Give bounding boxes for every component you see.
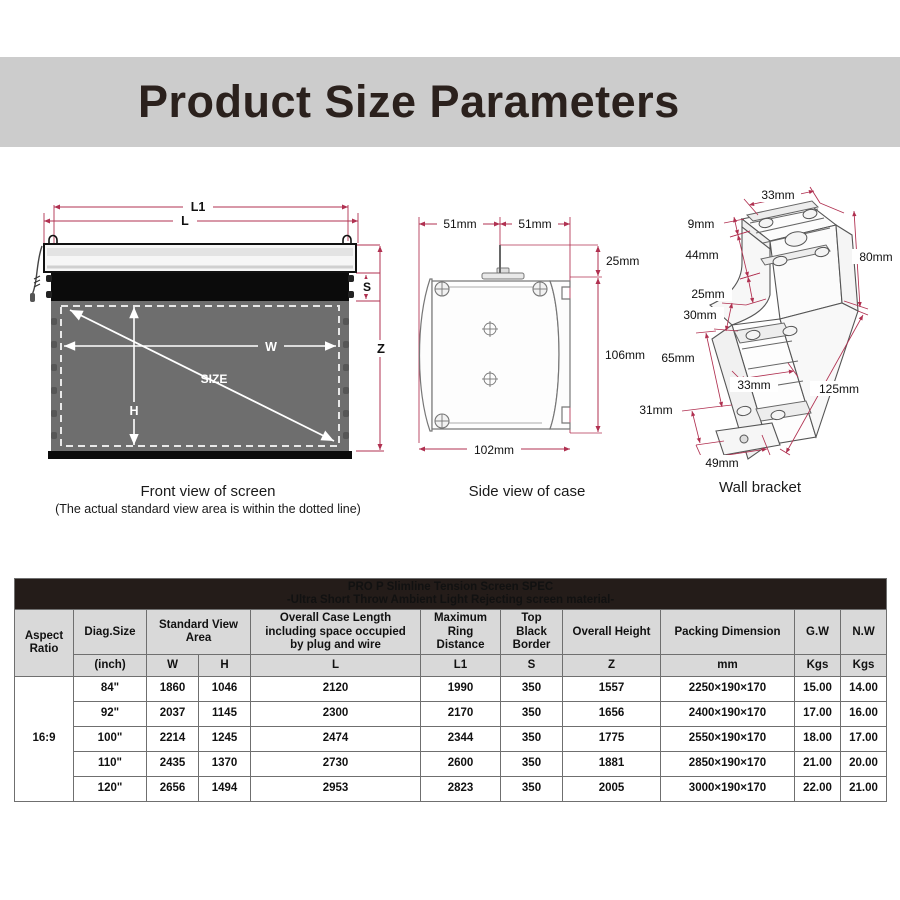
header-top-black-border: Top Black Border bbox=[501, 610, 563, 655]
wb-label-33-low: 33mm bbox=[737, 378, 770, 392]
unit-w: W bbox=[147, 655, 199, 677]
side-view-svg: 51mm 51mm 25mm 106mm 102mm bbox=[402, 195, 652, 485]
header-ocl-l3: by plug and wire bbox=[290, 639, 381, 651]
front-view-caption-sub: (The actual standard view area is within… bbox=[18, 502, 398, 516]
svg-text:L: L bbox=[181, 214, 189, 228]
cell-h: 1494 bbox=[199, 777, 251, 802]
header-tbb-l1: Top bbox=[521, 612, 541, 624]
cell-l1: 2600 bbox=[421, 752, 501, 777]
cell-h: 1245 bbox=[199, 727, 251, 752]
cell-s: 350 bbox=[501, 752, 563, 777]
header-aspect-ratio-l1: Aspect bbox=[25, 630, 63, 642]
table-row: 16:9 84" 1860 1046 2120 1990 350 1557 22… bbox=[15, 677, 887, 702]
header-nw: N.W bbox=[841, 610, 887, 655]
cell-s: 350 bbox=[501, 702, 563, 727]
cell-w: 2656 bbox=[147, 777, 199, 802]
cell-packing: 2250×190×170 bbox=[661, 677, 795, 702]
svg-text:L1: L1 bbox=[191, 200, 206, 214]
wb-label-9: 9mm bbox=[688, 217, 715, 231]
wall-bracket-diagram: 33mm 9mm 44mm 25mm 30mm 65mm 31mm 49mm bbox=[620, 183, 900, 483]
cell-z: 1656 bbox=[563, 702, 661, 727]
wb-label-44: 44mm bbox=[685, 248, 718, 262]
cell-l: 2953 bbox=[251, 777, 421, 802]
unit-packing: mm bbox=[661, 655, 795, 677]
cell-s: 350 bbox=[501, 777, 563, 802]
svg-text:W: W bbox=[265, 340, 277, 354]
header-mrd-l1: Maximum bbox=[434, 612, 487, 624]
svg-text:51mm: 51mm bbox=[443, 217, 476, 231]
cell-gw: 17.00 bbox=[795, 702, 841, 727]
banner-line-1: PRO P Slimline Tension Screen SPEC bbox=[348, 581, 553, 593]
unit-gw: Kgs bbox=[795, 655, 841, 677]
cell-h: 1370 bbox=[199, 752, 251, 777]
side-view-diagram: 51mm 51mm 25mm 106mm 102mm bbox=[402, 195, 652, 485]
header-overall-height: Overall Height bbox=[563, 610, 661, 655]
table-row: 100" 2214 1245 2474 2344 350 1775 2550×1… bbox=[15, 727, 887, 752]
cell-nw: 17.00 bbox=[841, 727, 887, 752]
cell-packing: 2400×190×170 bbox=[661, 702, 795, 727]
header-maximum-ring-distance: Maximum Ring Distance bbox=[421, 610, 501, 655]
cell-nw: 16.00 bbox=[841, 702, 887, 727]
header-mrd-l3: Distance bbox=[437, 639, 485, 651]
wall-bracket-svg: 33mm 9mm 44mm 25mm 30mm 65mm 31mm 49mm bbox=[620, 183, 900, 483]
wall-bracket-caption: Wall bracket bbox=[620, 479, 900, 496]
cell-diag: 92" bbox=[74, 702, 147, 727]
side-view-caption: Side view of case bbox=[402, 483, 652, 500]
svg-text:H: H bbox=[129, 404, 138, 418]
svg-text:102mm: 102mm bbox=[474, 443, 514, 457]
wb-label-31: 31mm bbox=[639, 403, 672, 417]
unit-l1: L1 bbox=[421, 655, 501, 677]
size-label: SIZE bbox=[201, 372, 228, 386]
cell-l1: 2344 bbox=[421, 727, 501, 752]
table-row: 110" 2435 1370 2730 2600 350 1881 2850×1… bbox=[15, 752, 887, 777]
wb-label-30: 30mm bbox=[683, 308, 716, 322]
table-row: 120" 2656 1494 2953 2823 350 2005 3000×1… bbox=[15, 777, 887, 802]
header-tbb-l2: Black bbox=[516, 626, 547, 638]
table-header-row: Aspect Ratio Diag.Size Standard View Are… bbox=[15, 610, 887, 655]
cell-w: 2214 bbox=[147, 727, 199, 752]
cell-s: 350 bbox=[501, 677, 563, 702]
cell-packing: 2550×190×170 bbox=[661, 727, 795, 752]
title-banner: Product Size Parameters bbox=[0, 57, 900, 147]
cell-h: 1145 bbox=[199, 702, 251, 727]
cell-l: 2474 bbox=[251, 727, 421, 752]
cell-nw: 21.00 bbox=[841, 777, 887, 802]
spec-table: PRO P Slimline Tension Screen SPEC -Ultr… bbox=[14, 578, 887, 802]
unit-nw: Kgs bbox=[841, 655, 887, 677]
unit-z: Z bbox=[563, 655, 661, 677]
banner-line-2: -Ultra Short Throw Ambient Light Rejecti… bbox=[16, 594, 885, 607]
cell-w: 1860 bbox=[147, 677, 199, 702]
unit-l: L bbox=[251, 655, 421, 677]
wb-label-25: 25mm bbox=[691, 287, 724, 301]
header-diag-size: Diag.Size bbox=[74, 610, 147, 655]
cell-diag: 100" bbox=[74, 727, 147, 752]
unit-s: S bbox=[501, 655, 563, 677]
front-view-caption: Front view of screen (The actual standar… bbox=[18, 483, 398, 516]
svg-text:51mm: 51mm bbox=[518, 217, 551, 231]
cell-diag: 84" bbox=[74, 677, 147, 702]
diagrams-area: L1 L bbox=[0, 175, 900, 545]
cell-packing: 3000×190×170 bbox=[661, 777, 795, 802]
page-title: Product Size Parameters bbox=[138, 76, 680, 128]
cell-z: 2005 bbox=[563, 777, 661, 802]
wb-label-33-top: 33mm bbox=[761, 188, 794, 202]
table-row: 92" 2037 1145 2300 2170 350 1656 2400×19… bbox=[15, 702, 887, 727]
cell-nw: 20.00 bbox=[841, 752, 887, 777]
cell-l: 2120 bbox=[251, 677, 421, 702]
header-overall-case-length: Overall Case Length including space occu… bbox=[251, 610, 421, 655]
spec-table-container: PRO P Slimline Tension Screen SPEC -Ultr… bbox=[14, 578, 886, 802]
cell-diag: 120" bbox=[74, 777, 147, 802]
cell-l: 2730 bbox=[251, 752, 421, 777]
cell-w: 2037 bbox=[147, 702, 199, 727]
table-banner-cell: PRO P Slimline Tension Screen SPEC -Ultr… bbox=[15, 579, 887, 610]
header-aspect-ratio-l2: Ratio bbox=[30, 643, 59, 655]
cell-s: 350 bbox=[501, 727, 563, 752]
cell-w: 2435 bbox=[147, 752, 199, 777]
side-view-caption-main: Side view of case bbox=[469, 483, 586, 500]
header-mrd-l2: Ring bbox=[448, 626, 474, 638]
cell-h: 1046 bbox=[199, 677, 251, 702]
header-ocl-l1: Overall Case Length bbox=[280, 612, 391, 624]
front-view-caption-main: Front view of screen bbox=[140, 483, 275, 500]
table-unit-row: (inch) W H L L1 S Z mm Kgs Kgs bbox=[15, 655, 887, 677]
wall-bracket-caption-main: Wall bracket bbox=[719, 479, 801, 496]
table-banner-row: PRO P Slimline Tension Screen SPEC -Ultr… bbox=[15, 579, 887, 610]
wb-label-80: 80mm bbox=[859, 250, 892, 264]
wb-label-65: 65mm bbox=[661, 351, 694, 365]
cell-l1: 2823 bbox=[421, 777, 501, 802]
unit-h: H bbox=[199, 655, 251, 677]
cell-gw: 22.00 bbox=[795, 777, 841, 802]
cell-gw: 21.00 bbox=[795, 752, 841, 777]
cell-gw: 15.00 bbox=[795, 677, 841, 702]
cell-l1: 2170 bbox=[421, 702, 501, 727]
cell-l: 2300 bbox=[251, 702, 421, 727]
header-sva-l2: Area bbox=[186, 632, 212, 644]
cell-z: 1775 bbox=[563, 727, 661, 752]
header-standard-view-area: Standard View Area bbox=[147, 610, 251, 655]
front-view-svg: L1 L bbox=[18, 183, 398, 483]
cell-aspect-ratio: 16:9 bbox=[15, 677, 74, 802]
header-sva-l1: Standard View bbox=[159, 619, 238, 631]
header-packing-dimension: Packing Dimension bbox=[661, 610, 795, 655]
header-ocl-l2: including space occupied bbox=[265, 626, 406, 638]
page-root: Product Size Parameters bbox=[0, 0, 900, 900]
cell-l1: 1990 bbox=[421, 677, 501, 702]
header-tbb-l3: Border bbox=[513, 639, 551, 651]
svg-text:S: S bbox=[363, 280, 371, 294]
unit-diag-size: (inch) bbox=[74, 655, 147, 677]
cell-z: 1881 bbox=[563, 752, 661, 777]
svg-text:Z: Z bbox=[377, 341, 385, 356]
header-gw: G.W bbox=[795, 610, 841, 655]
cell-diag: 110" bbox=[74, 752, 147, 777]
cell-z: 1557 bbox=[563, 677, 661, 702]
front-view-diagram: L1 L bbox=[18, 183, 398, 483]
cell-nw: 14.00 bbox=[841, 677, 887, 702]
header-aspect-ratio: Aspect Ratio bbox=[15, 610, 74, 677]
wb-label-125: 125mm bbox=[819, 382, 859, 396]
cell-packing: 2850×190×170 bbox=[661, 752, 795, 777]
wb-label-49: 49mm bbox=[705, 456, 738, 470]
cell-gw: 18.00 bbox=[795, 727, 841, 752]
